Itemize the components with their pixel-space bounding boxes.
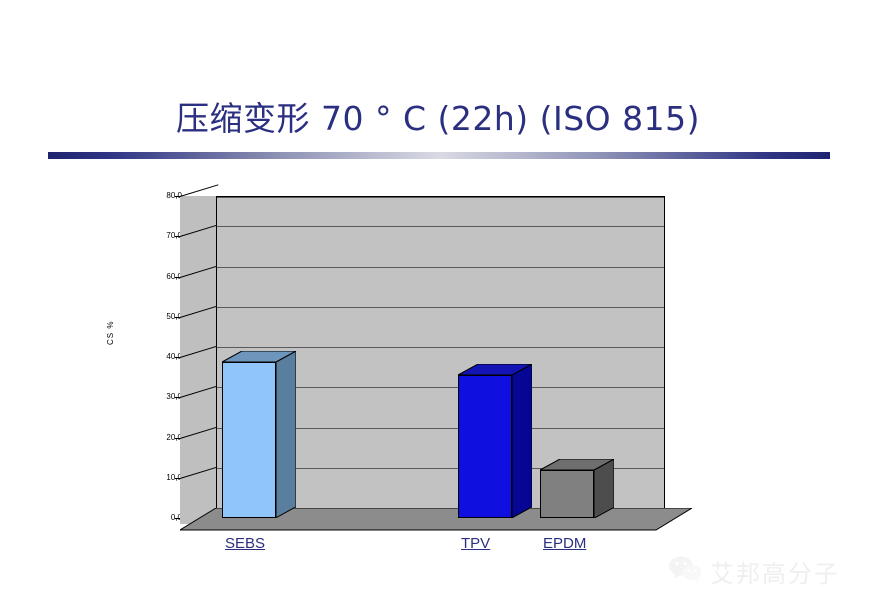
bar-side-face <box>276 351 296 518</box>
bar-front-face <box>222 362 276 518</box>
gridline <box>217 267 664 268</box>
bar-top-face <box>540 459 614 472</box>
watermark-text: 艾邦高分子 <box>710 554 840 589</box>
chart-side-panel <box>180 196 216 524</box>
depth-gridline <box>180 426 219 439</box>
x-axis-label-tpv[interactable]: TPV <box>461 535 490 552</box>
depth-gridline <box>180 386 219 399</box>
bar-side-face <box>512 364 532 518</box>
depth-gridline <box>180 184 219 197</box>
gridline <box>217 347 664 348</box>
page-title-text: 压缩变形 70 ° C (22h) (ISO 815) <box>176 99 700 138</box>
depth-gridline <box>180 305 219 318</box>
page-title: 压缩变形 70 ° C (22h) (ISO 815) <box>0 92 876 140</box>
bar-chart: CS % 0,010,020,030,040,050,060,070,080,0… <box>110 185 710 545</box>
gridline <box>217 307 664 308</box>
bar-sebs <box>222 351 276 518</box>
depth-gridline <box>180 225 219 238</box>
bar-top-face <box>458 364 532 377</box>
wechat-icon <box>668 555 702 588</box>
watermark: 艾邦高分子 <box>668 550 868 592</box>
x-axis-label-sebs[interactable]: SEBS <box>225 535 265 552</box>
bar-front-face <box>540 470 594 518</box>
bar-front-face <box>458 375 512 518</box>
y-axis-label: CS % <box>106 321 115 345</box>
depth-gridline <box>180 466 219 479</box>
bar-top-face <box>222 351 296 364</box>
gridline <box>217 197 664 198</box>
depth-gridline <box>180 345 219 358</box>
slide-canvas: 压缩变形 70 ° C (22h) (ISO 815) CS % 0,010,0… <box>0 0 876 613</box>
bar-epdm <box>540 459 594 518</box>
x-axis-label-epdm[interactable]: EPDM <box>543 535 586 552</box>
depth-gridline <box>180 265 219 278</box>
bar-tpv <box>458 364 512 518</box>
gridline <box>217 226 664 227</box>
title-divider <box>48 152 830 159</box>
